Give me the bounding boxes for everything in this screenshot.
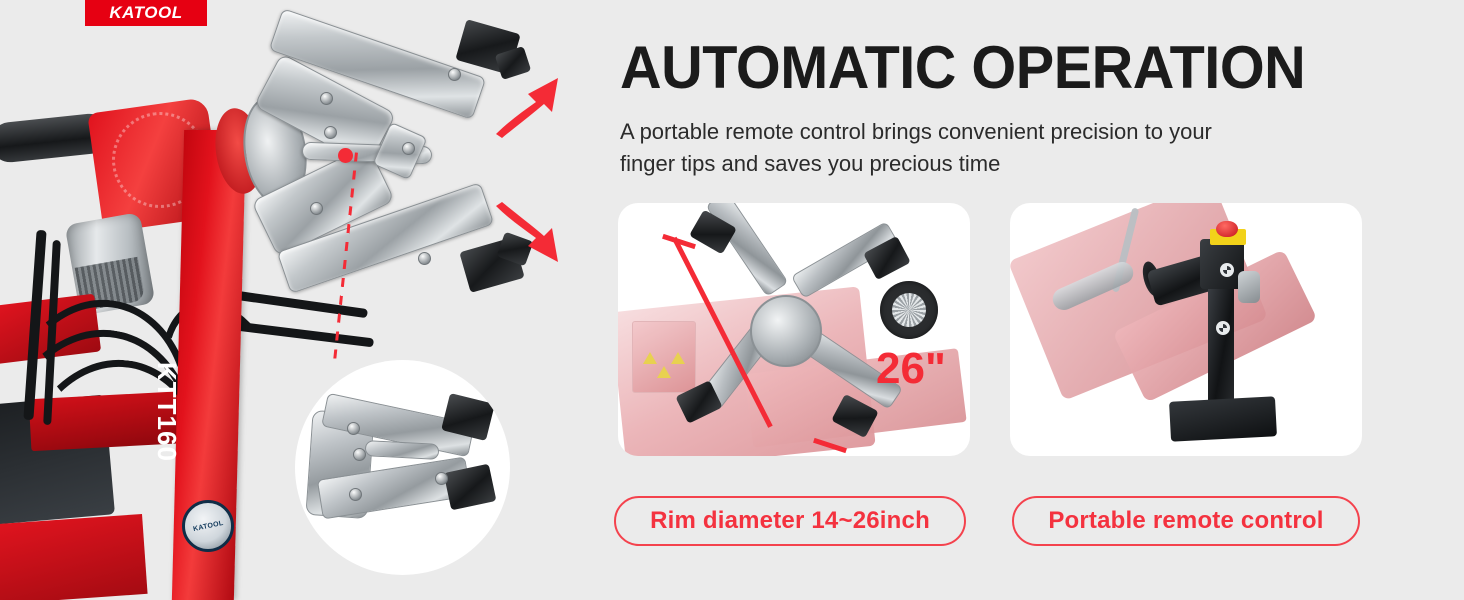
machine-round-badge-text: KATOOL bbox=[192, 519, 224, 532]
chuck-center-hub bbox=[750, 295, 822, 367]
inset-clamp-jaw-lower bbox=[444, 464, 497, 511]
remote-logo-icon bbox=[1216, 321, 1230, 335]
hazard-triangle-icon bbox=[657, 366, 671, 378]
ghost-control-box bbox=[632, 321, 696, 393]
remote-side-pad bbox=[1238, 271, 1260, 303]
rim-diameter-caption-text: Rim diameter 14~26inch bbox=[650, 507, 930, 535]
remote-control-caption-text: Portable remote control bbox=[1048, 507, 1323, 535]
clamp-detail-inset bbox=[295, 360, 510, 575]
page-title: AUTOMATIC OPERATION bbox=[620, 38, 1305, 98]
rim-diameter-caption-pill: Rim diameter 14~26inch bbox=[614, 496, 966, 546]
motion-arrow-up-icon bbox=[492, 72, 564, 142]
inset-bolt bbox=[347, 422, 360, 435]
remote-logo-icon bbox=[1220, 263, 1234, 277]
inset-bolt bbox=[435, 472, 448, 485]
clamp-bolt bbox=[402, 142, 415, 155]
hazard-triangle-icon bbox=[671, 352, 685, 364]
machine-photo: KTT160 KATOOL bbox=[0, 0, 600, 600]
page-subtitle-line-1: A portable remote control brings conveni… bbox=[620, 116, 1360, 148]
wheel-graphic bbox=[880, 281, 938, 339]
tire-size-label: 26" bbox=[876, 347, 946, 391]
hazard-triangle-icon bbox=[643, 352, 657, 364]
product-banner: KATOOL KTT160 KATOOL bbox=[0, 0, 1464, 600]
page-subtitle-line-2: finger tips and saves you precious time bbox=[620, 148, 1360, 180]
remote-base-plate bbox=[1169, 396, 1277, 441]
inset-bolt bbox=[349, 488, 362, 501]
remote-control-card bbox=[1010, 203, 1362, 456]
clamp-bolt bbox=[310, 202, 323, 215]
machine-model-label: KTT160 bbox=[151, 362, 182, 482]
callout-dot bbox=[338, 148, 353, 163]
inset-bolt bbox=[353, 448, 366, 461]
remote-control-caption-pill: Portable remote control bbox=[1012, 496, 1360, 546]
emergency-stop-button[interactable] bbox=[1216, 221, 1238, 237]
clamp-bolt bbox=[418, 252, 431, 265]
motion-arrow-down-icon bbox=[492, 198, 564, 268]
clamp-bolt bbox=[448, 68, 461, 81]
clamp-bolt bbox=[320, 92, 333, 105]
clamp-bolt bbox=[324, 126, 337, 139]
page-subtitle: A portable remote control brings conveni… bbox=[620, 116, 1360, 180]
inset-clamp-rod bbox=[365, 440, 440, 460]
rim-diameter-card: 26" bbox=[618, 203, 970, 456]
machine-round-badge: KATOOL bbox=[182, 500, 234, 552]
machine-base-plate bbox=[0, 514, 148, 600]
